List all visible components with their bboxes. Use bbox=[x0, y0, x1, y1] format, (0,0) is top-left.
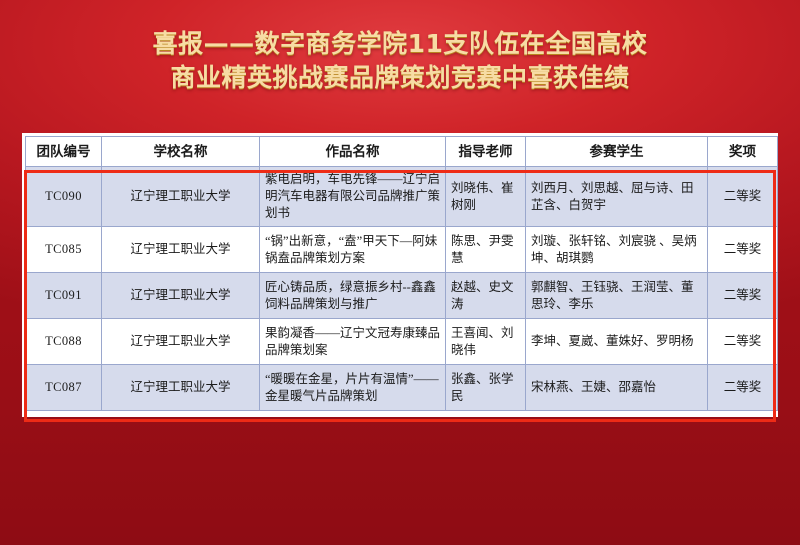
cell-work: “锅”出新意，“盍”甲天下—阿妹锅盍品牌策划方案 bbox=[260, 227, 446, 273]
results-table: 团队编号 学校名称 作品名称 指导老师 参赛学生 奖项 TC090 辽宁理工职业… bbox=[25, 136, 778, 411]
cell-award: 二等奖 bbox=[708, 273, 778, 319]
column-header-award: 奖项 bbox=[708, 137, 778, 167]
cell-school: 辽宁理工职业大学 bbox=[102, 273, 260, 319]
banner-title-line-2: 商业精英挑战赛品牌策划竞赛中喜获佳绩 bbox=[170, 61, 629, 95]
cell-award: 二等奖 bbox=[708, 365, 778, 411]
cell-team-id: TC085 bbox=[26, 227, 102, 273]
cell-team-id: TC088 bbox=[26, 319, 102, 365]
results-table-card: 团队编号 学校名称 作品名称 指导老师 参赛学生 奖项 TC090 辽宁理工职业… bbox=[22, 133, 778, 417]
table-row: TC085 辽宁理工职业大学 “锅”出新意，“盍”甲天下—阿妹锅盍品牌策划方案 … bbox=[26, 227, 778, 273]
banner-title-line-1: 喜报——数字商务学院11支队伍在全国高校 bbox=[153, 27, 648, 61]
cell-students: 刘西月、刘思越、屈与诗、田芷含、白贺宇 bbox=[526, 167, 708, 227]
table-row: TC088 辽宁理工职业大学 果韵凝香——辽宁文冠寿康臻品品牌策划案 王喜闻、刘… bbox=[26, 319, 778, 365]
cell-team-id: TC090 bbox=[26, 167, 102, 227]
cell-school: 辽宁理工职业大学 bbox=[102, 319, 260, 365]
table-header: 团队编号 学校名称 作品名称 指导老师 参赛学生 奖项 bbox=[26, 137, 778, 167]
table-header-row: 团队编号 学校名称 作品名称 指导老师 参赛学生 奖项 bbox=[26, 137, 778, 167]
cell-teachers: 陈思、尹雯慧 bbox=[446, 227, 526, 273]
cell-work: 匠心铸品质，绿意振乡村--鑫鑫饲料品牌策划与推广 bbox=[260, 273, 446, 319]
cell-students: 李坤、夏崴、董姝好、罗明杨 bbox=[526, 319, 708, 365]
column-header-school: 学校名称 bbox=[102, 137, 260, 167]
cell-work: 紫电启明，车电先锋——辽宁启明汽车电器有限公司品牌推广策划书 bbox=[260, 167, 446, 227]
table-row: TC090 辽宁理工职业大学 紫电启明，车电先锋——辽宁启明汽车电器有限公司品牌… bbox=[26, 167, 778, 227]
cell-team-id: TC087 bbox=[26, 365, 102, 411]
cell-award: 二等奖 bbox=[708, 319, 778, 365]
cell-school: 辽宁理工职业大学 bbox=[102, 365, 260, 411]
column-header-students: 参赛学生 bbox=[526, 137, 708, 167]
poster-canvas: 喜报——数字商务学院11支队伍在全国高校 商业精英挑战赛品牌策划竞赛中喜获佳绩 … bbox=[0, 0, 800, 545]
cell-teachers: 赵越、史文涛 bbox=[446, 273, 526, 319]
cell-award: 二等奖 bbox=[708, 167, 778, 227]
table-row: TC091 辽宁理工职业大学 匠心铸品质，绿意振乡村--鑫鑫饲料品牌策划与推广 … bbox=[26, 273, 778, 319]
column-header-teacher: 指导老师 bbox=[446, 137, 526, 167]
cell-students: 宋林燕、王婕、邵嘉怡 bbox=[526, 365, 708, 411]
cell-teachers: 张鑫、张学民 bbox=[446, 365, 526, 411]
cell-school: 辽宁理工职业大学 bbox=[102, 227, 260, 273]
table-row: TC087 辽宁理工职业大学 “暖暖在金星，片片有温情”——金星暖气片品牌策划 … bbox=[26, 365, 778, 411]
cell-award: 二等奖 bbox=[708, 227, 778, 273]
cell-work: 果韵凝香——辽宁文冠寿康臻品品牌策划案 bbox=[260, 319, 446, 365]
poster-banner: 喜报——数字商务学院11支队伍在全国高校 商业精英挑战赛品牌策划竞赛中喜获佳绩 bbox=[0, 0, 800, 122]
column-header-work: 作品名称 bbox=[260, 137, 446, 167]
cell-school: 辽宁理工职业大学 bbox=[102, 167, 260, 227]
column-header-team-id: 团队编号 bbox=[26, 137, 102, 167]
cell-students: 郭麒智、王钰骁、王润莹、董思玲、李乐 bbox=[526, 273, 708, 319]
cell-team-id: TC091 bbox=[26, 273, 102, 319]
cell-students: 刘璇、张轩铭、刘宸骁 、吴炳坤、胡琪鹦 bbox=[526, 227, 708, 273]
cell-teachers: 刘晓伟、崔树刚 bbox=[446, 167, 526, 227]
table-body: TC090 辽宁理工职业大学 紫电启明，车电先锋——辽宁启明汽车电器有限公司品牌… bbox=[26, 167, 778, 411]
cell-teachers: 王喜闻、刘晓伟 bbox=[446, 319, 526, 365]
cell-work: “暖暖在金星，片片有温情”——金星暖气片品牌策划 bbox=[260, 365, 446, 411]
